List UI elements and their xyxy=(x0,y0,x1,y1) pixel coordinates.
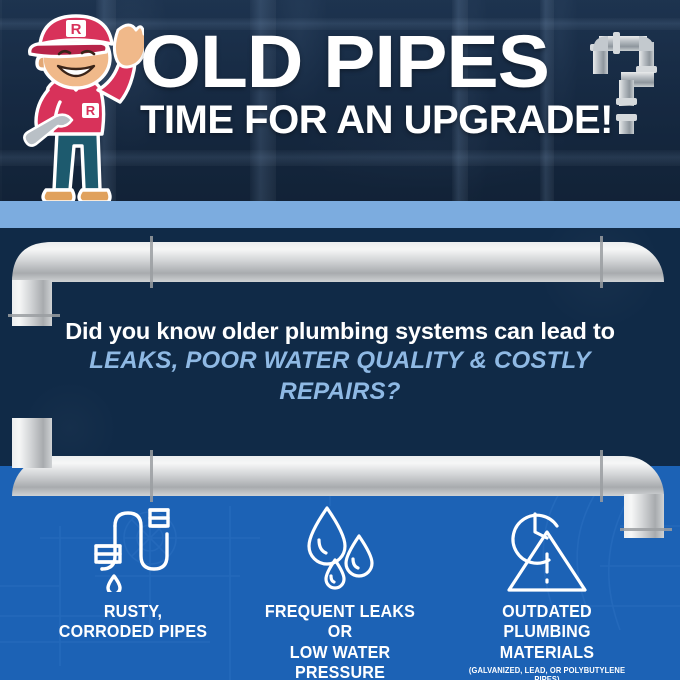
symptom-label-line-2: CORRODED PIPES xyxy=(46,621,221,641)
accent-stripe xyxy=(0,201,680,228)
symptom-icon-wrap xyxy=(38,500,228,592)
symptom-label-line-1: RUSTY, xyxy=(46,601,221,621)
svg-text:R: R xyxy=(86,103,96,118)
symptom-label: FREQUENT LEAKS OR LOW WATER PRESSURE xyxy=(253,601,428,680)
symptom-card: RUSTY, CORRODED PIPES xyxy=(38,500,228,680)
header-banner: R R OLD PIPES TIME FOR AN UPGRADE! xyxy=(0,0,680,201)
message-line-1: Did you know older plumbing systems can … xyxy=(40,316,640,346)
symptom-label-line-1: FREQUENT LEAKS OR xyxy=(253,601,428,642)
header-title-block: OLD PIPES TIME FOR AN UPGRADE! xyxy=(140,30,640,140)
p-trap-pipe-drip-icon xyxy=(90,504,176,592)
svg-text:R: R xyxy=(71,21,82,38)
symptom-card: FREQUENT LEAKS OR LOW WATER PRESSURE xyxy=(245,500,435,680)
symptom-label: OUTDATED PLUMBING MATERIALS xyxy=(460,601,635,662)
symptom-label-line-2: MATERIALS xyxy=(460,642,635,662)
symptom-label-line-2: LOW WATER PRESSURE xyxy=(253,642,428,680)
message-panel: Did you know older plumbing systems can … xyxy=(0,228,680,466)
symptoms-panel: RUSTY, CORRODED PIPES xyxy=(0,466,680,680)
symptom-icon-wrap xyxy=(452,500,642,592)
symptom-note: (GALVANIZED, LEAD, OR POLYBUTYLENE PIPES… xyxy=(460,666,635,680)
message-line-2: LEAKS, POOR WATER QUALITY & COSTLY REPAI… xyxy=(40,346,640,407)
clock-warning-triangle-icon xyxy=(501,504,593,592)
symptom-icon-wrap xyxy=(245,500,435,592)
pipe-question-mark-icon xyxy=(585,22,671,142)
page-subtitle: TIME FOR AN UPGRADE! xyxy=(140,100,640,140)
infographic-page: R R OLD PIPES TIME FOR AN UPGRADE! xyxy=(0,0,680,680)
symptom-card: OUTDATED PLUMBING MATERIALS (GALVANIZED,… xyxy=(452,500,642,680)
message-text-block: Did you know older plumbing systems can … xyxy=(0,316,680,408)
plumber-mascot-icon: R R xyxy=(12,8,144,201)
symptom-cards: RUSTY, CORRODED PIPES xyxy=(0,500,680,680)
water-droplets-icon xyxy=(297,504,383,592)
symptom-label: RUSTY, CORRODED PIPES xyxy=(46,601,221,642)
symptom-label-line-1: OUTDATED PLUMBING xyxy=(460,601,635,642)
